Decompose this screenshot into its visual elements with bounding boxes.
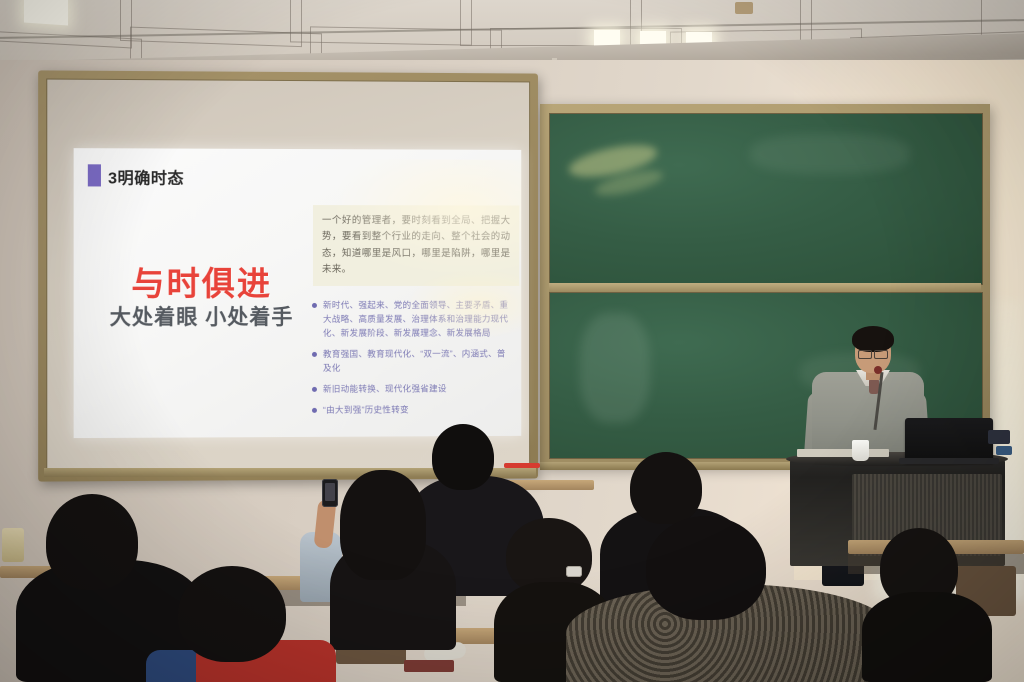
podium-paper — [797, 449, 889, 457]
slide-accent-bar — [88, 164, 101, 186]
projection-board: 3明确时态 与时俱进 大处着眼 小处着手 一个好的管理者，要时刻看到全局、把握大… — [38, 70, 538, 481]
smartphone-screen[interactable] — [325, 483, 335, 501]
microphone-icon — [874, 366, 882, 374]
slide-headline: 与时俱进 — [96, 257, 307, 305]
speaker-hair — [852, 326, 894, 352]
chalkboard-divider — [549, 283, 981, 292]
desk-device — [988, 430, 1010, 444]
hair-clip — [566, 566, 582, 577]
classroom-photo: 3明确时态 与时俱进 大处着眼 小处着手 一个好的管理者，要时刻看到全局、把握大… — [0, 0, 1024, 682]
slide-title: 3明确时态 — [108, 164, 184, 188]
chalkboard-upper-panel — [549, 113, 983, 285]
laptop-base — [899, 458, 999, 464]
cup-on-desk — [2, 528, 24, 562]
presentation-slide: 3明确时态 与时俱进 大处着眼 小处着手 一个好的管理者，要时刻看到全局、把握大… — [74, 148, 522, 438]
red-marker-icon — [504, 463, 540, 468]
slide-subheadline: 大处着眼 小处着手 — [96, 301, 307, 331]
slide-bullet: 新时代、强起来、党的全面领导、主要矛盾、重大战略、高质量发展、治理体系和治理能力… — [311, 299, 509, 341]
ceiling-fixture — [735, 2, 753, 14]
desk-device — [996, 446, 1012, 455]
projection-surface: 3明确时态 与时俱进 大处着眼 小处着手 一个好的管理者，要时刻看到全局、把握大… — [46, 79, 530, 474]
slide-bullet: “由大到强”历史性转变 — [311, 403, 509, 418]
slide-bullet: 教育强国、教育现代化、“双一流”、内涵式、普及化 — [311, 347, 509, 375]
ceiling-light-panel — [594, 30, 620, 46]
notebook — [404, 660, 454, 672]
laptop-icon — [905, 418, 993, 462]
slide-callout-box: 一个好的管理者，要时刻看到全局、把握大势，要看到整个行业的走向、整个社会的动态，… — [313, 205, 519, 286]
glasses-icon — [858, 350, 888, 357]
slide-bullet: 新旧动能转换、现代化强省建设 — [311, 382, 509, 397]
paper-cup-icon — [852, 440, 869, 461]
slide-bullet-list: 新时代、强起来、党的全面领导、主要矛盾、重大战略、高质量发展、治理体系和治理能力… — [311, 299, 509, 425]
ceiling-light-panel — [24, 0, 68, 26]
